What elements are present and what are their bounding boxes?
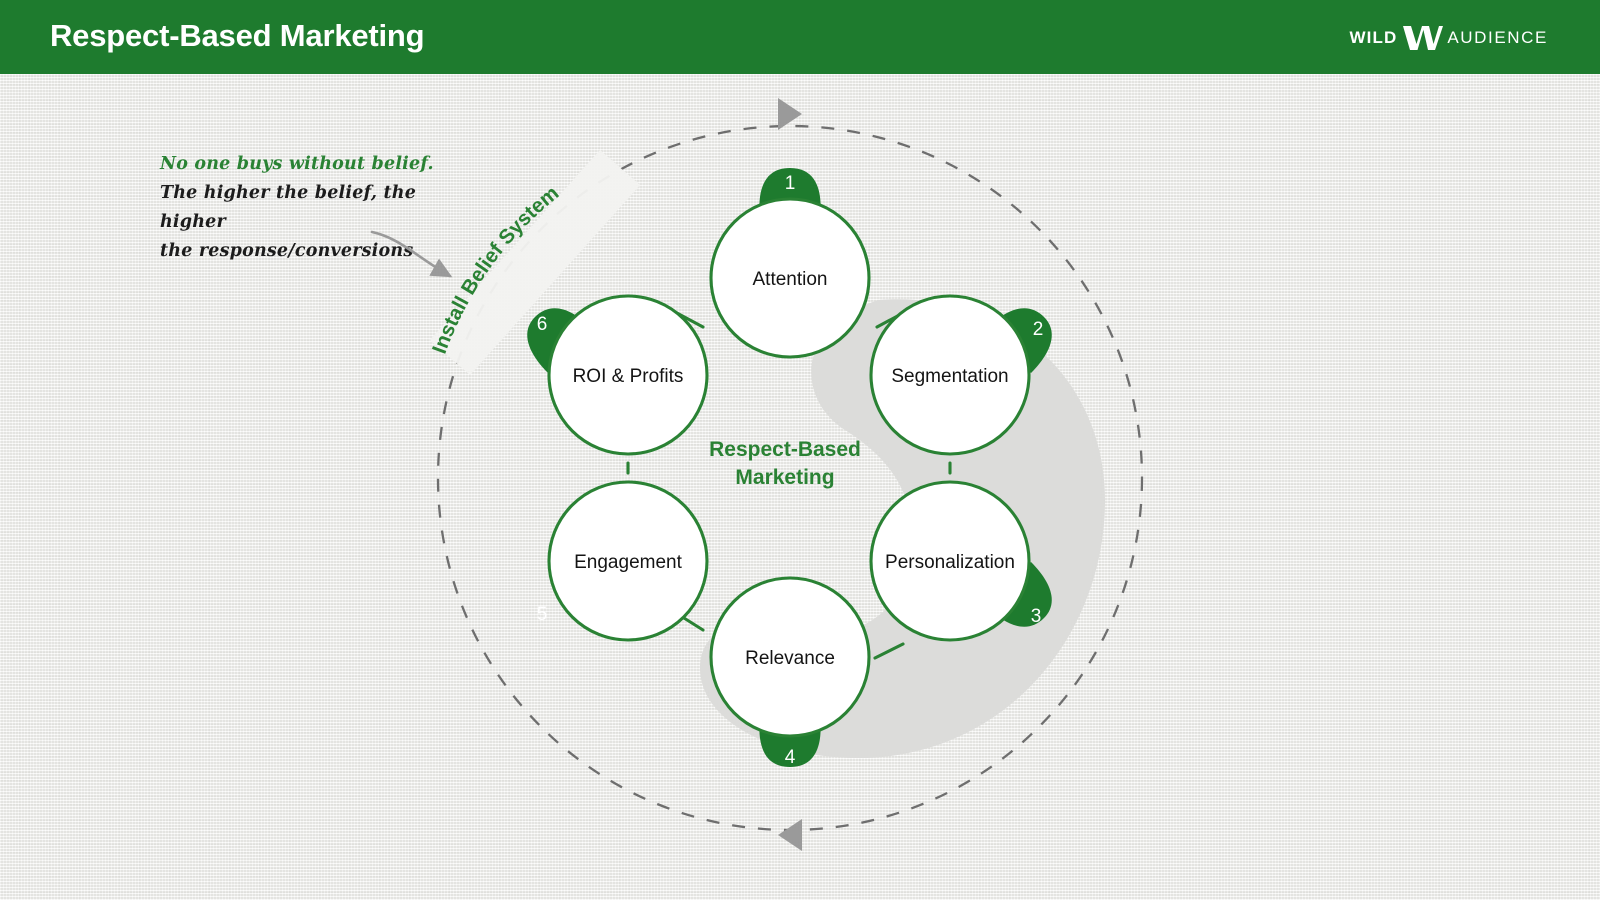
- node-6-label: ROI & Profits: [573, 366, 684, 387]
- node-5-number: 5: [537, 604, 548, 625]
- node-5-label: Engagement: [574, 552, 682, 573]
- slide-canvas: Respect-Based Marketing WILD AUDIENCE No…: [0, 0, 1600, 900]
- curved-arrow-icon: [372, 232, 450, 276]
- node-4-label: Relevance: [745, 648, 835, 669]
- center-label: Respect-Based Marketing: [709, 438, 861, 489]
- node-2-number: 2: [1033, 319, 1044, 340]
- node-1-label: Attention: [753, 269, 828, 290]
- node-2-label: Segmentation: [891, 366, 1008, 387]
- node-3-number: 3: [1031, 606, 1042, 627]
- node-3-label: Personalization: [885, 552, 1015, 573]
- center-label-line-2: Marketing: [735, 466, 834, 489]
- diagram-svg: Install Belief System 1 Attention 2 Segm…: [0, 0, 1600, 900]
- node-engagement[interactable]: 5 Engagement: [537, 482, 707, 640]
- node-roi-profits[interactable]: 6 ROI & Profits: [527, 296, 707, 454]
- node-attention[interactable]: 1 Attention: [711, 168, 869, 357]
- node-4-number: 4: [785, 747, 796, 768]
- center-label-line-1: Respect-Based: [709, 438, 861, 461]
- node-1-number: 1: [785, 173, 796, 194]
- node-6-number: 6: [537, 314, 548, 335]
- orbit-arrowhead-bottom: [778, 819, 802, 851]
